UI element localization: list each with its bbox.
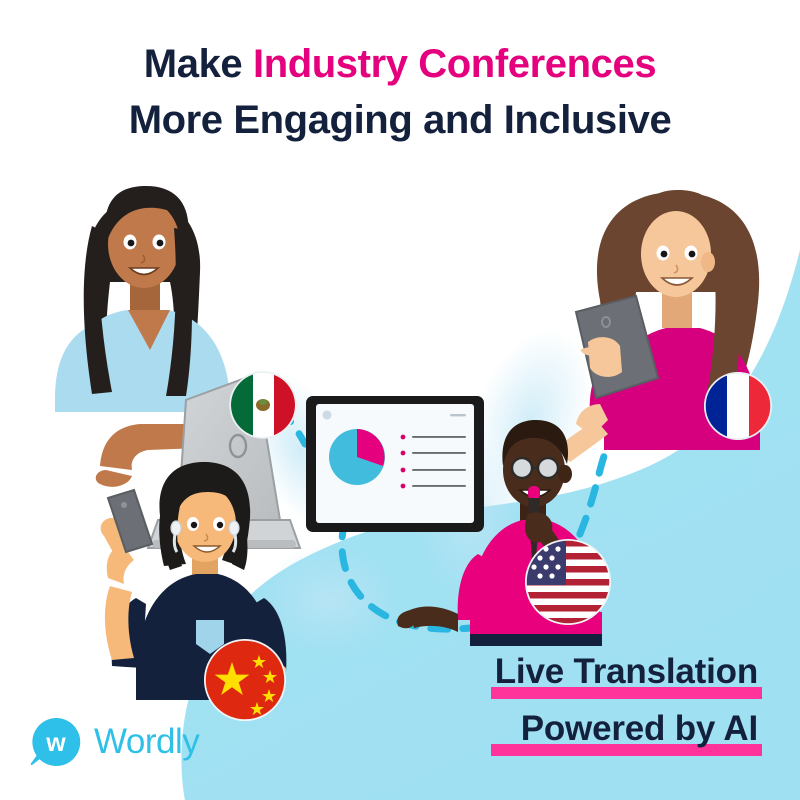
callout-line-2: Powered by AI	[517, 709, 762, 754]
speech-bubble-icon: w	[30, 716, 82, 768]
callout-row-2: Powered by AI	[491, 709, 762, 754]
wordly-logo[interactable]: w Wordly	[30, 716, 199, 768]
flag-badge-china	[204, 639, 286, 721]
poster-canvas: Make Industry Conferences More Engaging …	[0, 0, 800, 800]
flag-badge-usa	[525, 539, 611, 625]
pie-chart	[329, 429, 385, 485]
logo-wordmark: Wordly	[94, 722, 199, 762]
callout-row-1: Live Translation	[491, 652, 762, 697]
speech-bubble-svg: w	[30, 716, 82, 768]
flag-badge-mexico	[230, 372, 296, 438]
flag-badge-france	[704, 372, 772, 440]
presentation-screen	[306, 396, 484, 532]
callout-line-1: Live Translation	[491, 652, 762, 697]
logo-mark-letter: w	[45, 729, 66, 757]
callout-block: Live Translation Powered by AI	[491, 652, 762, 766]
